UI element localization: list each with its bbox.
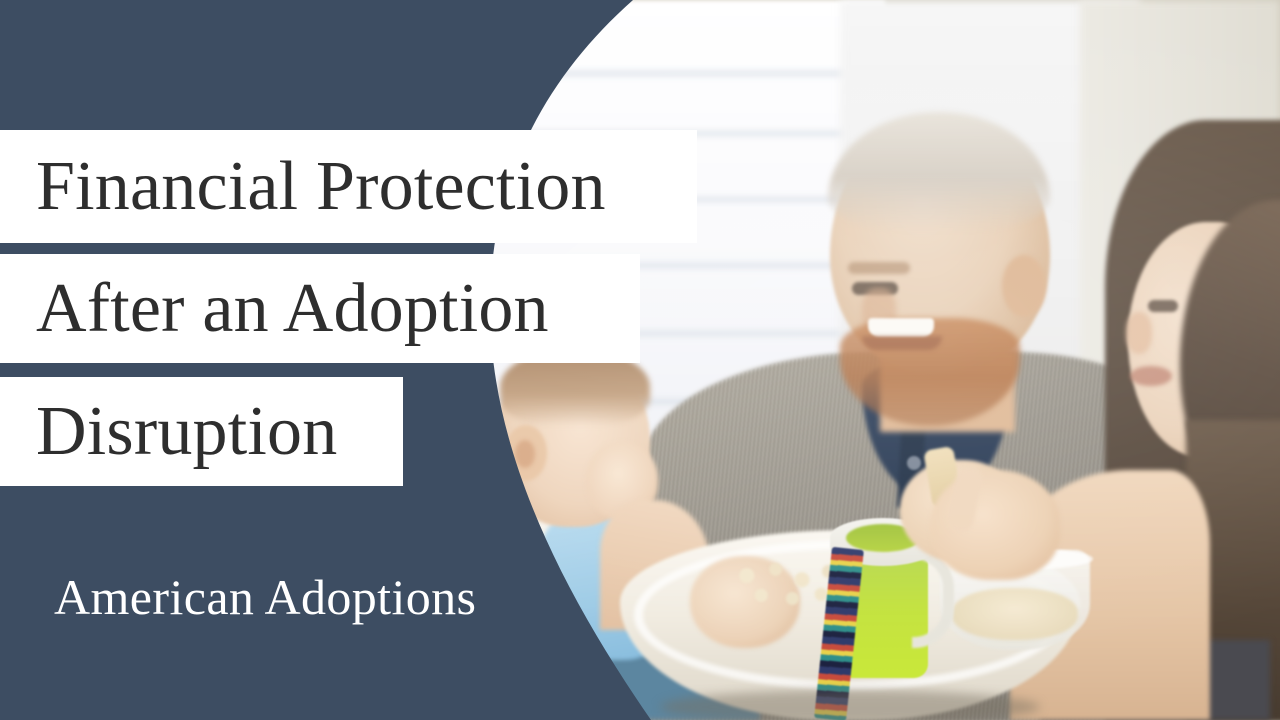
title-line-3-bar: Disruption: [0, 377, 403, 486]
title-line-1: Financial Protection: [0, 152, 606, 222]
title-line-3: Disruption: [0, 397, 337, 467]
title-line-2-bar: After an Adoption: [0, 254, 640, 363]
title-line-2: After an Adoption: [0, 274, 549, 344]
video-thumbnail: Financial Protection After an Adoption D…: [0, 0, 1280, 720]
title-line-1-bar: Financial Protection: [0, 130, 697, 243]
title-block: Financial Protection After an Adoption D…: [0, 0, 1280, 720]
brand-name: American Adoptions: [54, 572, 476, 622]
